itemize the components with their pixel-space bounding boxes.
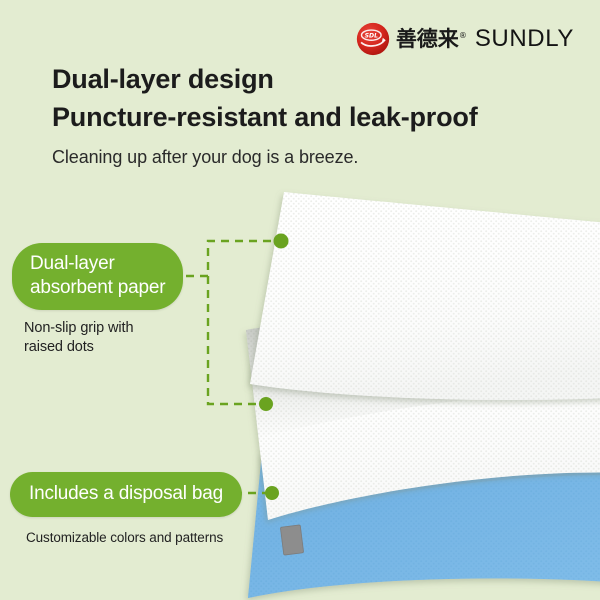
middle-white-absorbent-sheet [246, 292, 600, 520]
callout-badge-dual-layer: Dual-layer absorbent paper [12, 243, 183, 310]
product-infographic: SDL 善德来® SUNDLY Dual-layer design Punctu… [0, 0, 600, 600]
callout-dot-middle-sheet [259, 397, 273, 411]
callout-caption-line-1: Customizable colors and patterns [26, 528, 260, 547]
callout-badge-disposal-bag: Includes a disposal bag [10, 472, 242, 517]
brand-name-chinese: 善德来® [396, 29, 467, 50]
brand-lockup: SDL 善德来® SUNDLY [356, 22, 574, 56]
brand-name-chinese-text: 善德来 [396, 27, 459, 51]
headline-block: Dual-layer design Puncture-resistant and… [52, 60, 572, 170]
callout-includes-disposal-bag: Includes a disposal bag Customizable col… [10, 472, 260, 547]
top-white-absorbent-sheet [250, 192, 600, 400]
callout-badge-line-2: absorbent paper [30, 276, 165, 300]
callout-dot-blue-sheet [265, 486, 279, 500]
headline-subtitle: Cleaning up after your dog is a breeze. [52, 144, 572, 170]
bottom-blue-backing-sheet [248, 410, 600, 598]
callout-dot-top-sheet [274, 234, 289, 249]
callout-badge-line-1: Dual-layer [30, 252, 165, 276]
brand-name-english: SUNDLY [475, 27, 574, 51]
headline-line-2: Puncture-resistant and leak-proof [52, 98, 572, 136]
callout-dots [259, 234, 289, 501]
callout-dual-layer-absorbent-paper: Dual-layer absorbent paper Non-slip grip… [12, 243, 227, 357]
callout-caption-line-2: raised dots [24, 338, 227, 357]
callout-caption-disposal-bag: Customizable colors and patterns [26, 528, 260, 547]
callout-caption-line-1: Non-slip grip with [24, 319, 227, 338]
registered-trademark-mark: ® [459, 31, 467, 40]
callout-badge-line-1: Includes a disposal bag [29, 482, 223, 506]
callout-caption-dual-layer: Non-slip grip with raised dots [24, 319, 227, 357]
sundly-circular-logo-icon: SDL [356, 22, 390, 56]
disposal-bag-tab [280, 525, 303, 555]
headline-line-1: Dual-layer design [52, 60, 572, 98]
svg-text:SDL: SDL [364, 33, 377, 40]
